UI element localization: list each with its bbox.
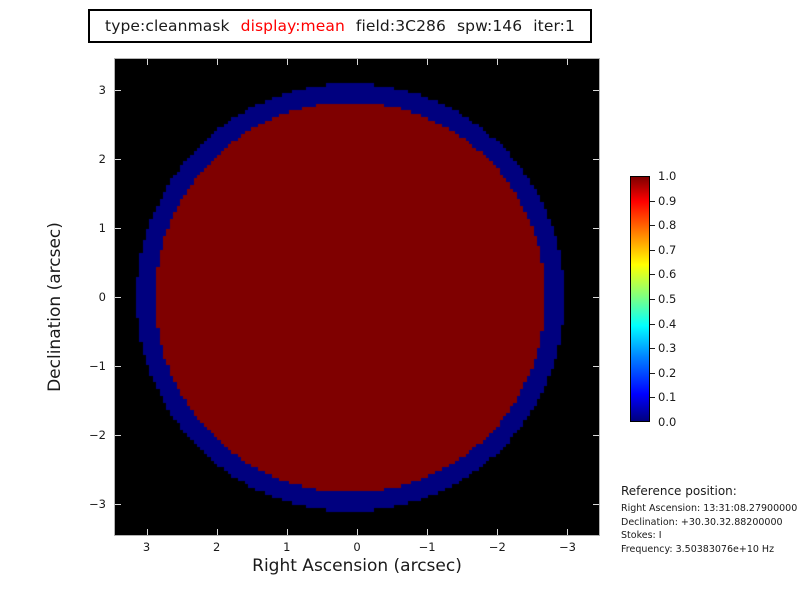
- x-axis-tick-label: −1: [419, 540, 436, 554]
- x-axis-tick-label: 0: [353, 540, 360, 554]
- x-axis-tick: [357, 529, 358, 535]
- y-axis-tick-label: −3: [80, 497, 106, 511]
- y-axis-tick: [115, 159, 121, 160]
- colorbar-gradient: [630, 176, 650, 422]
- y-axis-tick: [115, 90, 121, 91]
- reference-stokes: Stokes: I: [621, 529, 799, 543]
- colorbar-tick: [650, 373, 655, 374]
- y-axis-label: Declination (arcsec): [45, 97, 65, 517]
- y-axis-tick: [593, 435, 599, 436]
- colorbar-tick: [650, 397, 655, 398]
- colorbar-tick-label: 0.8: [658, 218, 676, 232]
- colorbar-tick-label: 0.9: [658, 194, 676, 208]
- colorbar-tick-label: 0.5: [658, 292, 676, 306]
- colorbar[interactable]: 1.00.90.80.70.60.50.40.30.20.10.0: [630, 176, 650, 422]
- colorbar-tick: [650, 299, 655, 300]
- y-axis-tick: [115, 366, 121, 367]
- y-axis-tick: [115, 435, 121, 436]
- x-axis-tick: [567, 59, 568, 65]
- title-token-iter: iter:1: [533, 17, 575, 35]
- x-axis-tick: [217, 59, 218, 65]
- y-axis-tick: [593, 90, 599, 91]
- y-axis-tick-label: −2: [80, 428, 106, 442]
- x-axis-tick: [217, 529, 218, 535]
- title-token-display: display:mean: [241, 17, 345, 35]
- y-axis-tick: [115, 228, 121, 229]
- y-axis-tick-label: 2: [80, 152, 106, 166]
- x-axis-tick-label: 1: [283, 540, 290, 554]
- title-token-spw: spw:146: [457, 17, 522, 35]
- x-axis-tick: [497, 529, 498, 535]
- reference-heading: Reference position:: [621, 484, 799, 498]
- y-axis-tick: [593, 228, 599, 229]
- x-axis-tick: [147, 59, 148, 65]
- y-axis-tick: [115, 297, 121, 298]
- x-axis-tick: [287, 529, 288, 535]
- colorbar-tick-label: 1.0: [658, 169, 676, 183]
- y-axis-tick-label: 0: [80, 290, 106, 304]
- x-axis-tick: [497, 59, 498, 65]
- x-axis-tick-label: 3: [143, 540, 150, 554]
- image-plot-area[interactable]: [114, 58, 600, 536]
- colorbar-tick: [650, 225, 655, 226]
- x-axis-tick: [427, 59, 428, 65]
- colorbar-tick: [650, 201, 655, 202]
- cleanmask-image: [115, 59, 599, 535]
- reference-right-ascension: Right Ascension: 13:31:08.27900000: [621, 502, 799, 516]
- x-axis-tick: [567, 529, 568, 535]
- x-axis-label: Right Ascension (arcsec): [114, 556, 600, 576]
- reference-frequency: Frequency: 3.50383076e+10 Hz: [621, 543, 799, 557]
- x-axis-tick: [357, 59, 358, 65]
- reference-declination: Declination: +30.30.32.88200000: [621, 516, 799, 530]
- y-axis-tick: [593, 159, 599, 160]
- colorbar-tick: [650, 324, 655, 325]
- colorbar-tick: [650, 348, 655, 349]
- colorbar-tick-label: 0.2: [658, 366, 676, 380]
- y-axis-tick: [593, 297, 599, 298]
- plot-title-bar: type:cleanmask display:mean field:3C286 …: [88, 9, 592, 43]
- colorbar-tick: [650, 274, 655, 275]
- colorbar-tick-label: 0.6: [658, 267, 676, 281]
- colorbar-tick: [650, 250, 655, 251]
- y-axis-tick: [593, 366, 599, 367]
- reference-position-block: Reference position: Right Ascension: 13:…: [621, 484, 799, 556]
- x-axis-tick-label: −2: [489, 540, 506, 554]
- colorbar-tick-label: 0.4: [658, 317, 676, 331]
- title-token-type: type:cleanmask: [105, 17, 230, 35]
- y-axis-tick: [593, 504, 599, 505]
- x-axis-tick: [427, 529, 428, 535]
- x-axis-tick: [147, 529, 148, 535]
- y-axis-tick-label: 3: [80, 83, 106, 97]
- title-token-field: field:3C286: [356, 17, 446, 35]
- x-axis-tick-label: −3: [559, 540, 576, 554]
- x-axis-tick: [287, 59, 288, 65]
- y-axis-tick-label: 1: [80, 221, 106, 235]
- colorbar-tick-label: 0.1: [658, 390, 676, 404]
- y-axis-tick-label: −1: [80, 359, 106, 373]
- colorbar-tick-label: 0.7: [658, 243, 676, 257]
- colorbar-tick-label: 0.3: [658, 341, 676, 355]
- x-axis-tick-label: 2: [213, 540, 220, 554]
- colorbar-tick-label: 0.0: [658, 415, 676, 429]
- y-axis-tick: [115, 504, 121, 505]
